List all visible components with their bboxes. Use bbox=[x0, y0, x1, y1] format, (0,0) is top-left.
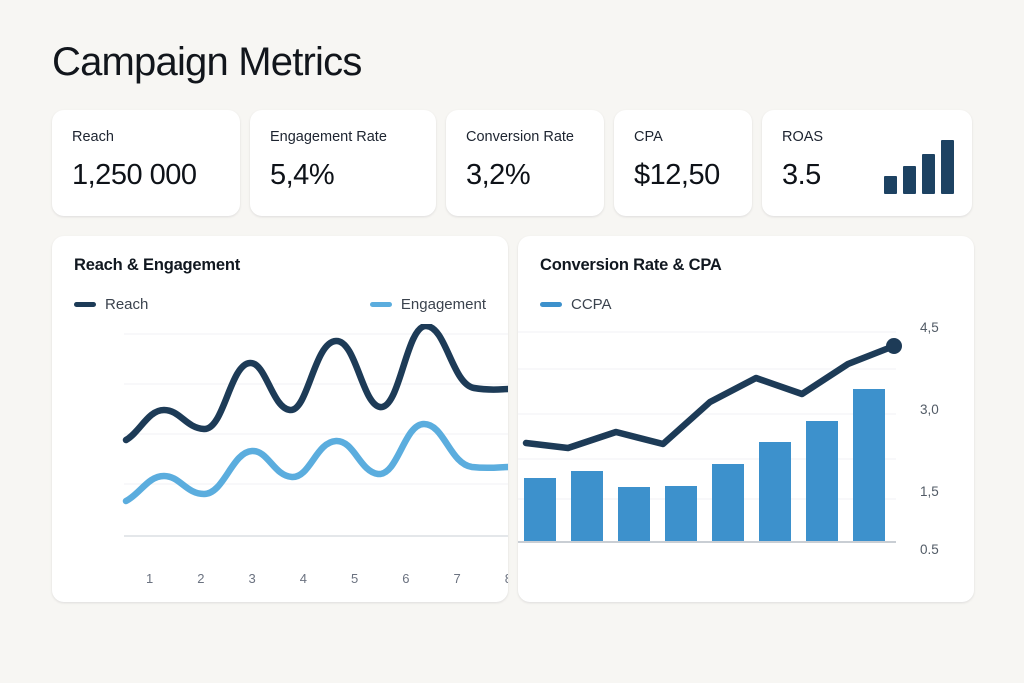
x-axis-tick-label: 2 bbox=[175, 571, 226, 586]
page-title: Campaign Metrics bbox=[52, 38, 362, 86]
sparkline-bar bbox=[941, 140, 954, 194]
bar bbox=[853, 389, 885, 542]
kpi-card-conversion-rate[interactable]: Conversion Rate 3,2% bbox=[446, 110, 604, 216]
legend-item-reach[interactable]: Reach bbox=[74, 294, 148, 314]
x-axis-tick-label: 7 bbox=[432, 571, 483, 586]
y-axis-tick-label: 4,5 bbox=[920, 320, 939, 335]
legend-reach-engagement: Reach Engagement bbox=[74, 294, 486, 314]
panel-reach-engagement: Reach & Engagement Reach Engagement bbox=[52, 236, 508, 602]
kpi-card-cpa[interactable]: CPA $12,50 bbox=[614, 110, 752, 216]
reach-engagement-svg bbox=[52, 324, 508, 554]
roas-sparkline-chart bbox=[884, 138, 956, 194]
kpi-value: 1,250 000 bbox=[72, 157, 220, 193]
legend-swatch-icon bbox=[74, 302, 96, 307]
bar bbox=[618, 487, 650, 542]
bar bbox=[524, 478, 556, 542]
legend-swatch-icon bbox=[540, 302, 562, 307]
kpi-label: Conversion Rate bbox=[466, 128, 584, 146]
kpi-card-reach[interactable]: Reach 1,250 000 bbox=[52, 110, 240, 216]
y-axis-tick-label: 3,0 bbox=[920, 402, 939, 417]
legend-item-ccpa[interactable]: CCPA bbox=[540, 294, 612, 314]
y-axis-tick-label: 1,5 bbox=[920, 484, 939, 499]
line-end-marker-icon bbox=[886, 338, 902, 354]
x-axis-tick-labels: 12345678 bbox=[124, 571, 508, 586]
x-axis-tick-label: 3 bbox=[227, 571, 278, 586]
legend-label: Reach bbox=[105, 296, 148, 313]
kpi-card-roas[interactable]: ROAS 3.5 bbox=[762, 110, 972, 216]
x-axis-tick-label: 6 bbox=[380, 571, 431, 586]
bar bbox=[571, 471, 603, 542]
bar bbox=[712, 464, 744, 542]
kpi-value: $12,50 bbox=[634, 157, 732, 193]
kpi-label: Engagement Rate bbox=[270, 128, 416, 146]
panel-conversion-cpa: Conversion Rate & CPA CCPA bbox=[518, 236, 974, 602]
bar-series-ccpa bbox=[524, 389, 885, 542]
x-axis-tick-label: 1 bbox=[124, 571, 175, 586]
legend-conversion-cpa: CCPA bbox=[540, 294, 952, 314]
legend-label: CCPA bbox=[571, 296, 612, 313]
conversion-cpa-svg bbox=[518, 324, 974, 564]
bar bbox=[665, 486, 697, 542]
kpi-card-engagement-rate[interactable]: Engagement Rate 5,4% bbox=[250, 110, 436, 216]
panel-title: Conversion Rate & CPA bbox=[540, 256, 722, 275]
kpi-card-strip: Reach 1,250 000 Engagement Rate 5,4% Con… bbox=[52, 110, 972, 216]
legend-swatch-icon bbox=[370, 302, 392, 307]
bar bbox=[806, 421, 838, 542]
sparkline-bar bbox=[922, 154, 935, 194]
dashboard-page: Campaign Metrics Reach 1,250 000 Engagem… bbox=[0, 0, 1024, 683]
combo-chart-plot-area bbox=[518, 324, 974, 564]
kpi-value: 3,2% bbox=[466, 157, 584, 193]
sparkline-bar bbox=[884, 176, 897, 194]
y-axis-tick-label: 0.5 bbox=[920, 542, 939, 557]
series-line-cpa-trend bbox=[526, 346, 894, 448]
kpi-value: 5,4% bbox=[270, 157, 416, 193]
series-line-reach bbox=[126, 326, 508, 440]
x-axis-tick-label: 5 bbox=[329, 571, 380, 586]
kpi-label: CPA bbox=[634, 128, 732, 146]
chart-panels: Reach & Engagement Reach Engagement bbox=[52, 236, 974, 602]
x-axis-tick-label: 4 bbox=[278, 571, 329, 586]
kpi-label: Reach bbox=[72, 128, 220, 146]
bar bbox=[759, 442, 791, 542]
panel-title: Reach & Engagement bbox=[74, 256, 240, 275]
sparkline-bar bbox=[903, 166, 916, 194]
line-chart-plot-area bbox=[52, 324, 508, 554]
legend-label: Engagement bbox=[401, 296, 486, 313]
series-line-engagement bbox=[126, 424, 508, 501]
legend-item-engagement[interactable]: Engagement bbox=[370, 294, 486, 314]
x-axis-tick-label: 8 bbox=[483, 571, 508, 586]
